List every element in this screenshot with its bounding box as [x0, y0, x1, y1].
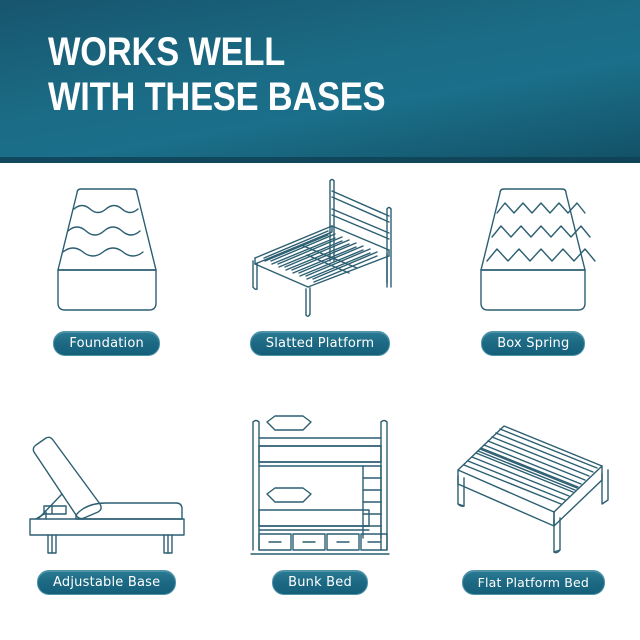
base-card-adjustable-base[interactable]: Adjustable Base — [0, 402, 213, 640]
base-card-foundation[interactable]: Foundation — [0, 163, 213, 402]
base-card-flat-platform-bed[interactable]: Flat Platform Bed — [427, 402, 640, 640]
page-title: WORKS WELLWITH THESE BASES — [48, 30, 385, 120]
header-banner: WORKS WELLWITH THESE BASES — [0, 0, 640, 163]
adjustable-base-icon — [16, 408, 198, 568]
slatted-platform-icon — [229, 169, 411, 329]
base-label-adjustable-base[interactable]: Adjustable Base — [37, 570, 176, 595]
title-line-1: WORKS WELL — [48, 30, 285, 74]
title-line-2: WITH THESE BASES — [48, 75, 385, 120]
base-card-box-spring[interactable]: Box Spring — [427, 163, 640, 402]
bases-grid: Foundation — [0, 163, 640, 640]
base-label-bunk-bed[interactable]: Bunk Bed — [272, 570, 368, 595]
base-label-flat-platform-bed[interactable]: Flat Platform Bed — [462, 570, 606, 595]
base-card-slatted-platform[interactable]: Slatted Platform — [213, 163, 426, 402]
infographic-page: WORKS WELLWITH THESE BASES Foundation — [0, 0, 640, 640]
base-label-box-spring[interactable]: Box Spring — [481, 331, 585, 356]
flat-platform-bed-icon — [442, 408, 624, 568]
base-label-foundation[interactable]: Foundation — [53, 331, 160, 356]
box-spring-icon — [442, 169, 624, 329]
base-label-slatted-platform[interactable]: Slatted Platform — [250, 331, 390, 356]
foundation-icon — [16, 169, 198, 329]
base-card-bunk-bed[interactable]: Bunk Bed — [213, 402, 426, 640]
bunk-bed-icon — [229, 408, 411, 568]
